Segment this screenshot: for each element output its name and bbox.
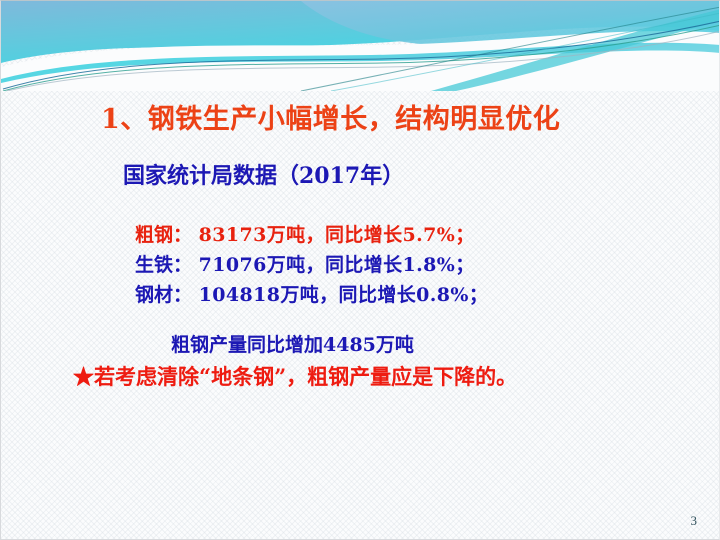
note-crude-steel-increase: 粗钢产量同比增加4485万吨	[171, 333, 414, 357]
stat-row-pig-iron: 生铁： 71076万吨，同比增长1.8%；	[135, 253, 475, 277]
stat-label-steel-products: 钢材：	[135, 284, 192, 306]
stat-label-crude-steel: 粗钢：	[135, 224, 192, 246]
highlight-remark: ★若考虑清除“地条钢”，粗钢产量应是下降的。	[73, 363, 517, 391]
stat-value-crude-steel: 83173万吨，同比增长5.7%；	[199, 224, 475, 246]
slide-title: 1、钢铁生产小幅增长，结构明显优化	[101, 103, 560, 137]
stat-row-steel-products: 钢材： 104818万吨，同比增长0.8%；	[135, 283, 488, 307]
presentation-slide: 1、钢铁生产小幅增长，结构明显优化 国家统计局数据（2017年） 粗钢： 831…	[0, 0, 720, 540]
stat-row-crude-steel: 粗钢： 83173万吨，同比增长5.7%；	[135, 223, 475, 247]
stat-label-pig-iron: 生铁：	[135, 254, 192, 276]
slide-body: 1、钢铁生产小幅增长，结构明显优化 国家统计局数据（2017年） 粗钢： 831…	[1, 1, 720, 540]
stat-value-pig-iron: 71076万吨，同比增长1.8%；	[199, 254, 475, 276]
page-number: 3	[691, 513, 698, 529]
data-source-subtitle: 国家统计局数据（2017年）	[123, 162, 404, 190]
stat-value-steel-products: 104818万吨，同比增长0.8%；	[199, 284, 489, 306]
